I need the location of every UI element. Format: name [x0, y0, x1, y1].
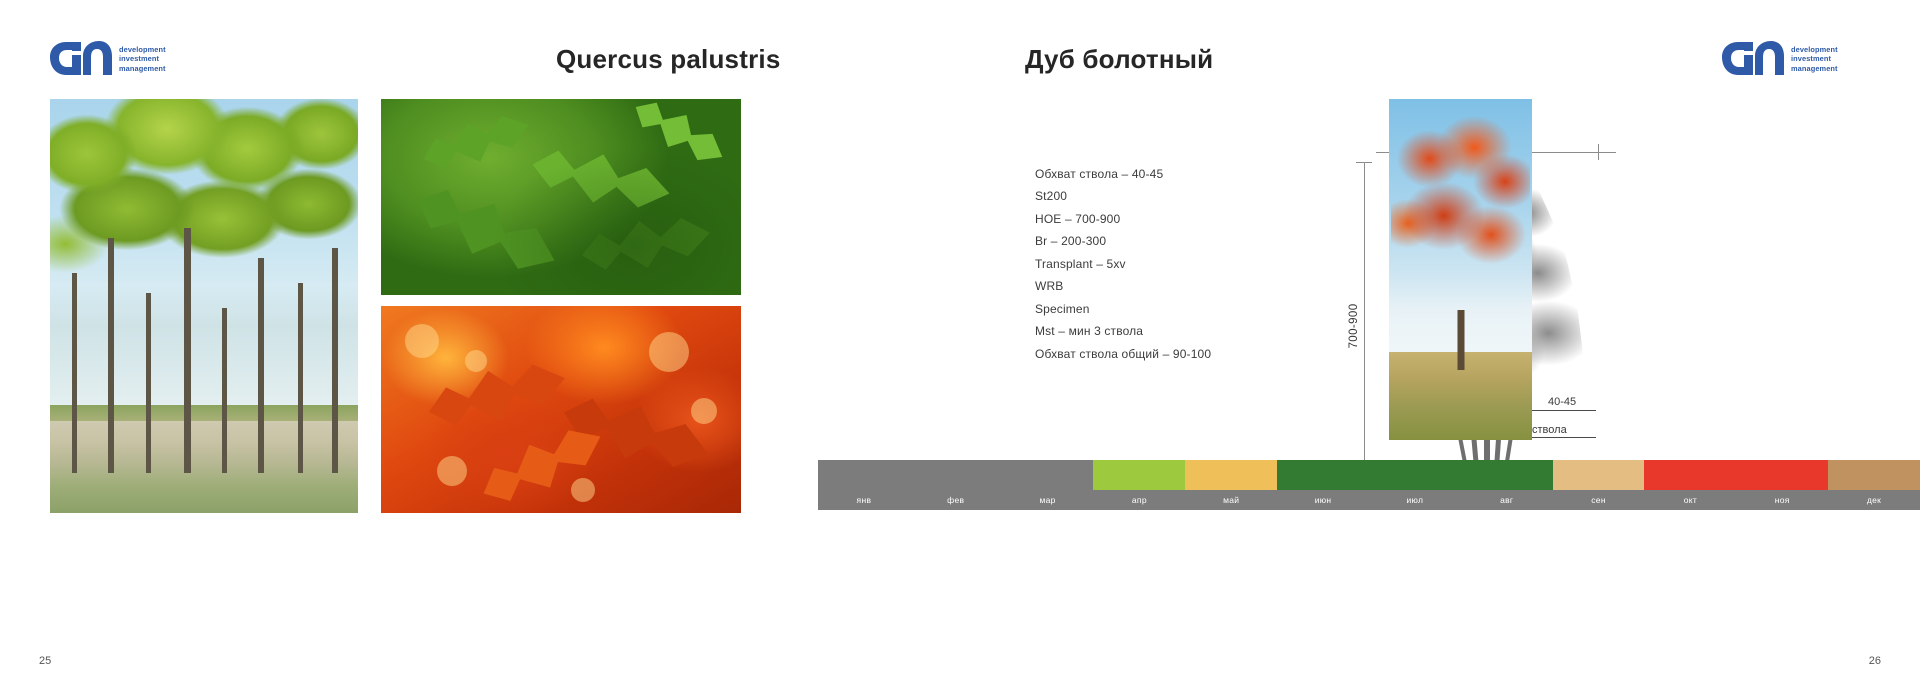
photo-trunk: [1457, 310, 1464, 370]
season-cell-apr: [1093, 460, 1185, 490]
logo-left: development investment management: [50, 36, 166, 82]
height-dimension-line: [1364, 162, 1365, 460]
photo-green-leaves: [381, 99, 741, 295]
month-label-jan: янв: [818, 490, 910, 510]
tagline-line-1: development: [119, 45, 166, 54]
month-label-jul: июл: [1369, 490, 1461, 510]
title-latin: Quercus palustris: [556, 44, 780, 75]
photo-crown: [1391, 117, 1530, 307]
page-number-right: 26: [1869, 655, 1881, 667]
height-dimension-label: 700-900: [1348, 298, 1360, 354]
month-label-jun: июн: [1277, 490, 1369, 510]
month-label-sep: сен: [1553, 490, 1645, 510]
spec-item: Transplant – 5xv: [1035, 253, 1315, 275]
season-month-labels: янв фев мар апр май июн июл авг сен окт …: [818, 490, 1920, 510]
spec-item: Обхват ствола общий – 90-100: [1035, 343, 1315, 365]
season-cell-dec: [1828, 460, 1920, 490]
spec-item: Specimen: [1035, 298, 1315, 320]
photo-spring-grove: [50, 99, 358, 513]
dim-logo-icon: [50, 36, 112, 82]
month-label-aug: авг: [1461, 490, 1553, 510]
trunk-dimension-label: 40-45: [1548, 396, 1576, 408]
season-cell-oct: [1644, 460, 1736, 490]
logo-tagline: development investment management: [119, 45, 166, 73]
month-label-nov: ноя: [1736, 490, 1828, 510]
presentation-spread: development investment management develo…: [0, 0, 1920, 679]
spec-item: HOE – 700-900: [1035, 208, 1315, 230]
specification-list: Обхват ствола – 40-45 St200 HOE – 700-90…: [1035, 163, 1315, 365]
season-cell-nov: [1736, 460, 1828, 490]
page-number-left: 25: [39, 655, 51, 667]
photo-leaf-depth-blur: [381, 99, 741, 295]
season-cell-sep: [1553, 460, 1645, 490]
month-label-dec: дек: [1828, 490, 1920, 510]
logo-right: development investment management: [1722, 36, 1838, 82]
season-color-row: [818, 460, 1920, 490]
photo-autumn-leaves: [381, 306, 741, 513]
dim-logo-icon: [1722, 36, 1784, 82]
height-tick-top: [1356, 162, 1372, 163]
month-label-may: май: [1185, 490, 1277, 510]
tagline-line-1: development: [1791, 45, 1838, 54]
season-cell-may: [1185, 460, 1277, 490]
spec-item: Br – 200-300: [1035, 230, 1315, 252]
tagline-line-2: investment: [119, 54, 166, 63]
season-cell-jul: [1369, 460, 1461, 490]
spec-item: Mst – мин 3 ствола: [1035, 320, 1315, 342]
photo-autumn-tree: [1389, 99, 1532, 440]
tagline-line-3: management: [119, 64, 166, 73]
spec-item: St200: [1035, 185, 1315, 207]
photo-trunks: [50, 99, 358, 513]
season-cell-mar: [1002, 460, 1094, 490]
month-label-mar: мар: [1002, 490, 1094, 510]
month-label-feb: фев: [910, 490, 1002, 510]
spec-item: Обхват ствола – 40-45: [1035, 163, 1315, 185]
season-cell-aug: [1461, 460, 1553, 490]
tagline-line-3: management: [1791, 64, 1838, 73]
month-label-apr: апр: [1093, 490, 1185, 510]
logo-tagline: development investment management: [1791, 45, 1838, 73]
title-russian: Дуб болотный: [1025, 44, 1213, 75]
season-cell-jan: [818, 460, 910, 490]
width-tick-right: [1598, 144, 1599, 160]
month-label-oct: окт: [1644, 490, 1736, 510]
season-cell-feb: [910, 460, 1002, 490]
season-cell-jun: [1277, 460, 1369, 490]
tagline-line-2: investment: [1791, 54, 1838, 63]
season-calendar-bar: янв фев мар апр май июн июл авг сен окт …: [818, 460, 1920, 510]
spec-item: WRB: [1035, 275, 1315, 297]
